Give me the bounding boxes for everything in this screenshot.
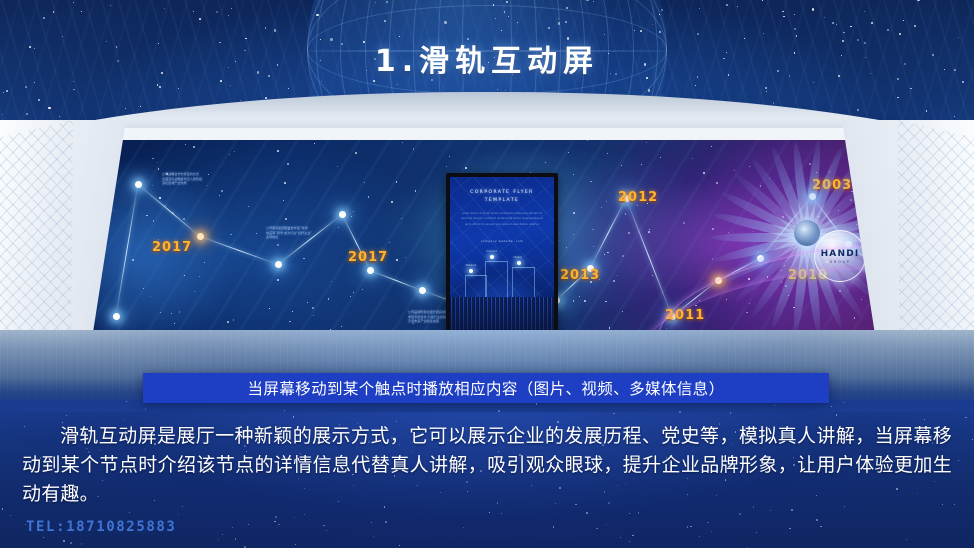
star-speckle	[899, 33, 901, 35]
center-poster-screen-frame: CORPORATE FLYER TEMPLATE Lorem ipsum dol…	[446, 173, 558, 335]
poster-network-label: Digital	[513, 256, 521, 259]
timeline-year-label: 2017	[152, 240, 192, 255]
description-paragraph: 滑轨互动屏是展厅一种新颖的展示方式，它可以展示企业的发展历程、党史等，模拟真人讲…	[22, 422, 952, 509]
star-speckle	[66, 415, 67, 416]
star-speckle	[794, 14, 795, 15]
caption-banner-text: 当屏幕移动到某个触点时播放相应内容（图片、视频、多媒体信息）	[247, 377, 724, 399]
star-speckle	[129, 512, 131, 514]
star-speckle	[962, 81, 964, 83]
poster-network-graphic: NetworkConnectDigital	[450, 231, 554, 301]
star-speckle	[63, 540, 65, 542]
star-speckle	[10, 515, 11, 516]
poster-network-peak	[512, 267, 535, 301]
center-poster-screen[interactable]: CORPORATE FLYER TEMPLATE Lorem ipsum dol…	[450, 177, 554, 331]
star-speckle	[756, 532, 757, 533]
timeline-node-caption: 公司战略合作伙伴签约仪式 全面深化战略合作迈入新阶段 深化区域产业布局	[162, 172, 202, 186]
star-speckle	[794, 28, 795, 29]
star-speckle	[659, 14, 660, 15]
star-speckle	[566, 7, 568, 9]
star-speckle	[857, 109, 859, 111]
star-speckle	[81, 543, 83, 545]
star-speckle	[218, 539, 220, 541]
star-speckle	[648, 89, 650, 91]
star-speckle	[73, 2, 74, 3]
poster-network-peak	[485, 261, 508, 301]
star-speckle	[954, 116, 955, 117]
page-title-text: 1.滑轨互动屏	[375, 44, 599, 79]
star-speckle	[321, 81, 322, 82]
timeline-segment	[625, 198, 672, 316]
star-speckle	[770, 510, 771, 511]
star-speckle	[836, 414, 838, 416]
poster-network-node	[490, 255, 494, 259]
star-speckle	[791, 509, 793, 511]
star-speckle	[373, 536, 374, 537]
star-speckle	[140, 106, 141, 107]
star-speckle	[871, 22, 873, 24]
star-speckle	[178, 88, 179, 89]
star-speckle	[265, 27, 267, 29]
star-speckle	[586, 0, 588, 1]
star-speckle	[586, 512, 588, 514]
star-speckle	[765, 87, 767, 89]
star-speckle	[463, 527, 464, 528]
star-speckle	[687, 526, 688, 527]
star-speckle	[159, 86, 161, 88]
star-speckle	[739, 513, 741, 515]
star-speckle	[38, 99, 40, 101]
star-speckle	[81, 11, 82, 12]
star-speckle	[316, 14, 318, 16]
star-speckle	[193, 11, 194, 12]
star-speckle	[864, 11, 865, 12]
star-speckle	[604, 34, 605, 35]
star-speckle	[730, 412, 731, 413]
star-speckle	[110, 5, 112, 7]
star-speckle	[897, 97, 898, 98]
star-speckle	[903, 20, 904, 21]
star-speckle	[820, 526, 821, 527]
star-speckle	[565, 21, 567, 23]
star-speckle	[232, 527, 233, 528]
star-speckle	[558, 18, 559, 19]
star-speckle	[284, 410, 285, 411]
star-speckle	[230, 85, 231, 86]
timeline-segment	[589, 198, 626, 269]
star-speckle	[596, 528, 597, 529]
star-speckle	[690, 526, 691, 527]
star-speckle	[640, 30, 642, 32]
star-speckle	[34, 82, 35, 83]
star-speckle	[972, 439, 973, 440]
star-speckle	[517, 22, 518, 23]
timeline-node[interactable]	[275, 261, 282, 268]
star-speckle	[59, 116, 60, 117]
poster-city-skyline	[450, 297, 554, 331]
star-speckle	[288, 88, 289, 89]
star-speckle	[789, 528, 791, 530]
star-speckle	[73, 81, 74, 82]
timeline-segment	[370, 270, 422, 291]
star-speckle	[965, 417, 967, 419]
star-speckle	[737, 6, 738, 7]
star-speckle	[824, 17, 825, 18]
star-speckle	[294, 517, 295, 518]
star-speckle	[43, 537, 44, 538]
star-speckle	[216, 11, 218, 13]
star-speckle	[493, 4, 495, 6]
star-speckle	[293, 416, 295, 418]
star-speckle	[371, 522, 372, 523]
caption-banner: 当屏幕移动到某个触点时播放相应内容（图片、视频、多媒体信息）	[143, 373, 829, 403]
star-speckle	[373, 80, 375, 82]
timeline-node-caption: 公司荣获集团颁发的年度“优秀 供应商”称号 成为行业“标杆企业” 主导地位	[266, 226, 312, 240]
star-speckle	[73, 89, 75, 91]
timeline-year-label: 2012	[618, 190, 658, 205]
star-speckle	[629, 513, 630, 514]
star-speckle	[399, 545, 400, 546]
star-speckle	[659, 31, 661, 33]
timeline-segment	[200, 236, 278, 265]
star-speckle	[326, 530, 327, 531]
timeline-node[interactable]	[339, 211, 346, 218]
star-speckle	[783, 16, 785, 18]
star-speckle	[274, 29, 276, 31]
star-speckle	[924, 419, 925, 420]
star-speckle	[844, 402, 845, 403]
star-speckle	[444, 21, 446, 23]
star-speckle	[53, 11, 54, 12]
star-speckle	[126, 401, 127, 402]
poster-heading: CORPORATE FLYER TEMPLATE	[450, 189, 554, 206]
star-speckle	[26, 113, 28, 115]
star-speckle	[495, 18, 496, 19]
star-speckle	[782, 11, 784, 13]
timeline-node[interactable]	[197, 233, 204, 240]
star-speckle	[164, 8, 165, 9]
telephone-label: TEL:18710825883	[26, 519, 176, 535]
star-speckle	[832, 22, 834, 24]
star-speckle	[634, 30, 635, 31]
star-speckle	[386, 1, 388, 3]
poster-network-label: Connect	[486, 250, 497, 253]
star-speckle	[222, 534, 223, 535]
poster-heading-line1: CORPORATE FLYER	[450, 189, 554, 197]
star-speckle	[274, 521, 275, 522]
star-speckle	[695, 85, 696, 86]
star-speckle	[497, 89, 498, 90]
star-speckle	[295, 544, 296, 545]
star-speckle	[917, 0, 919, 1]
star-speckle	[536, 403, 538, 405]
star-speckle	[679, 411, 681, 413]
star-speckle	[178, 514, 179, 515]
star-speckle	[278, 524, 279, 525]
star-speckle	[157, 84, 159, 86]
star-speckle	[661, 9, 663, 11]
timeline-node[interactable]	[419, 287, 426, 294]
star-speckle	[699, 536, 700, 537]
star-speckle	[501, 513, 502, 514]
star-speckle	[699, 8, 700, 9]
star-speckle	[397, 84, 398, 85]
star-speckle	[384, 20, 386, 22]
star-speckle	[726, 4, 728, 6]
star-speckle	[235, 538, 237, 540]
star-speckle	[836, 24, 837, 25]
star-speckle	[199, 18, 201, 20]
star-speckle	[124, 419, 125, 420]
star-speckle	[304, 514, 305, 515]
star-speckle	[697, 33, 699, 35]
star-speckle	[816, 519, 818, 521]
star-speckle	[812, 8, 814, 10]
star-speckle	[231, 8, 232, 9]
star-speckle	[910, 88, 911, 89]
star-speckle	[850, 26, 851, 27]
star-speckle	[506, 1, 508, 3]
star-speckle	[125, 108, 126, 109]
star-speckle	[489, 512, 490, 513]
poster-network-node	[469, 269, 473, 273]
star-speckle	[2, 508, 4, 510]
star-speckle	[926, 110, 928, 112]
star-speckle	[620, 537, 621, 538]
star-speckle	[548, 27, 550, 29]
star-speckle	[48, 107, 50, 109]
star-speckle	[228, 15, 229, 16]
star-speckle	[831, 406, 832, 407]
star-speckle	[558, 22, 560, 24]
star-speckle	[613, 413, 615, 415]
star-speckle	[25, 86, 27, 88]
timeline-node[interactable]	[367, 267, 374, 274]
turbine-hub	[794, 220, 820, 246]
star-speckle	[914, 25, 916, 27]
star-speckle	[954, 504, 955, 505]
star-speckle	[248, 524, 249, 525]
star-speckle	[843, 32, 844, 33]
page-title: 1.滑轨互动屏	[0, 36, 974, 80]
star-speckle	[275, 516, 277, 518]
star-speckle	[323, 525, 325, 527]
star-speckle	[553, 526, 555, 528]
poster-network-label: Network	[466, 264, 477, 267]
star-speckle	[70, 542, 72, 544]
star-speckle	[887, 29, 889, 31]
star-speckle	[766, 91, 767, 92]
star-speckle	[504, 11, 506, 13]
star-speckle	[958, 460, 959, 461]
poster-network-node	[517, 261, 521, 265]
star-speckle	[498, 410, 500, 412]
slide-canvas: 20172017201220132011201020031995公司战略合作伙伴…	[0, 0, 974, 548]
timeline-segment	[138, 184, 201, 237]
star-speckle	[593, 1, 594, 2]
timeline-year-label: 2017	[348, 250, 388, 265]
star-speckle	[375, 2, 376, 3]
star-speckle	[606, 524, 607, 525]
star-speckle	[6, 90, 8, 92]
star-speckle	[501, 30, 502, 31]
star-speckle	[711, 531, 712, 532]
poster-body-text: Lorem ipsum dolor sit amet consectetur a…	[460, 211, 544, 227]
timeline-year-label: 2013	[560, 268, 600, 283]
star-speckle	[632, 535, 634, 537]
star-speckle	[385, 521, 386, 522]
poster-heading-line2: TEMPLATE	[450, 197, 554, 205]
star-speckle	[774, 405, 775, 406]
star-speckle	[43, 17, 45, 19]
star-speckle	[773, 102, 774, 103]
star-speckle	[2, 114, 3, 115]
star-speckle	[220, 80, 222, 82]
star-speckle	[508, 16, 509, 17]
star-speckle	[629, 541, 630, 542]
star-speckle	[906, 539, 907, 540]
star-speckle	[813, 82, 815, 84]
star-speckle	[638, 512, 640, 514]
star-speckle	[707, 522, 708, 523]
star-speckle	[763, 33, 764, 34]
timeline-node[interactable]	[135, 181, 142, 188]
star-speckle	[652, 24, 653, 25]
star-speckle	[3, 92, 4, 93]
star-speckle	[145, 408, 147, 410]
